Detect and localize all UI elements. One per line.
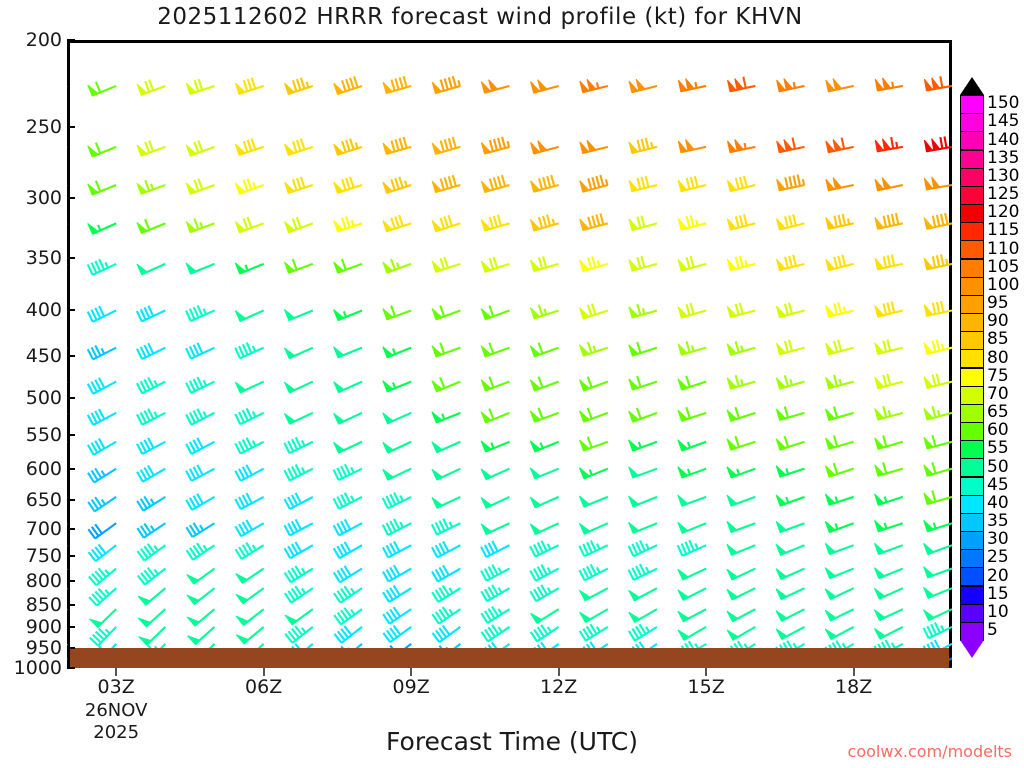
wind-barb (580, 213, 608, 230)
wind-barb (432, 607, 460, 624)
wind-barb (88, 468, 116, 482)
wind-barb (88, 306, 116, 322)
wind-barb (875, 301, 903, 316)
wind-barb (88, 438, 116, 454)
wind-barb (383, 413, 411, 424)
wind-barb (874, 588, 902, 599)
wind-barb (285, 542, 313, 558)
wind-barb (924, 177, 952, 190)
wind-barb (924, 136, 952, 151)
wind-barb (334, 139, 362, 155)
wind-barb (186, 377, 214, 393)
colorbar-tick-label: 80 (987, 348, 1009, 368)
wind-barb (383, 215, 411, 231)
wind-barb (580, 624, 608, 640)
wind-barb (727, 341, 755, 354)
wind-barb (432, 215, 460, 231)
wind-barb (875, 435, 903, 448)
colorbar-top-arrow (960, 77, 984, 95)
wind-barb (334, 259, 362, 273)
colorbar-tick-label: 100 (987, 275, 1019, 295)
wind-barb (285, 626, 313, 643)
wind-barb (235, 263, 263, 274)
wind-barb (531, 256, 559, 271)
wind-barb (383, 541, 411, 557)
wind-barb (137, 377, 165, 393)
wind-barb (678, 176, 706, 191)
y-axis-tick-label: 900 (26, 616, 62, 638)
wind-barb (88, 259, 116, 275)
wind-barb (826, 79, 854, 92)
colorbar-tick-label: 45 (987, 475, 1009, 495)
wind-barb (727, 256, 755, 270)
wind-barb (924, 213, 952, 229)
colorbar-tick-label: 130 (987, 166, 1019, 186)
colorbar-tick-label: 135 (987, 148, 1019, 168)
y-axis-tick-mark (67, 197, 75, 199)
y-axis-tick-label: 850 (26, 594, 62, 616)
wind-barb (137, 465, 165, 481)
wind-barb (235, 217, 263, 232)
wind-barb (89, 568, 116, 585)
colorbar-tick-label: 125 (987, 184, 1019, 204)
wind-barb (875, 78, 903, 91)
wind-barb (235, 520, 263, 536)
wind-barb (481, 441, 509, 452)
colorbar-swatch (960, 458, 984, 477)
wind-barb (186, 409, 214, 425)
colorbar-tick-label: 145 (987, 111, 1019, 131)
wind-barb (236, 569, 264, 584)
wind-barb (187, 627, 214, 644)
wind-barb (187, 588, 215, 604)
wind-barb (383, 586, 411, 602)
wind-barb (481, 306, 509, 320)
wind-barb (826, 214, 854, 229)
date-line-1: 26NOV (85, 700, 148, 722)
y-axis-tick-mark (67, 126, 75, 128)
wind-barb (285, 78, 313, 94)
colorbar-swatch (960, 331, 984, 350)
wind-barb (137, 343, 165, 359)
wind-barb (531, 175, 559, 192)
colorbar-tick-label: 40 (987, 493, 1009, 513)
y-axis-tick-label: 250 (26, 116, 62, 138)
wind-barb (334, 542, 362, 558)
wind-barb (236, 609, 264, 625)
wind-barb (629, 79, 657, 92)
wind-barb (432, 469, 460, 480)
wind-barb (481, 409, 509, 423)
colorbar-swatch (960, 259, 984, 278)
wind-barb (678, 256, 706, 270)
wind-barb (629, 588, 657, 600)
wind-barb (875, 254, 903, 269)
wind-barb (579, 523, 607, 534)
y-axis-tick-label: 200 (26, 29, 62, 51)
wind-barb (383, 306, 411, 320)
wind-barb (284, 493, 312, 509)
colorbar-tick-label: 120 (987, 202, 1019, 222)
wind-barb (530, 523, 558, 534)
wind-barb (727, 495, 755, 506)
wind-barb (825, 627, 853, 639)
wind-barb (875, 406, 903, 419)
wind-barb (481, 377, 509, 391)
colorbar-swatch (960, 150, 984, 169)
wind-barb (678, 376, 706, 390)
wind-barb (187, 609, 214, 626)
wind-barb (432, 497, 460, 508)
wind-barb (481, 469, 509, 480)
wind-barb (776, 588, 804, 599)
wind-barb (825, 521, 853, 532)
wind-barb (678, 407, 706, 421)
wind-barb (432, 257, 460, 272)
colorbar-tick-label: 30 (987, 529, 1009, 549)
colorbar-swatch (960, 422, 984, 441)
wind-barb (875, 520, 903, 531)
wind-barb (875, 213, 903, 229)
wind-barb (88, 345, 116, 359)
wind-barb (334, 519, 362, 535)
wind-barb (776, 495, 804, 506)
y-axis-tick-mark (67, 604, 75, 606)
y-axis-tick-label: 500 (26, 387, 62, 409)
wind-barb (383, 259, 411, 273)
wind-barb (88, 409, 116, 425)
y-axis-tick-mark (67, 667, 75, 669)
wind-barb (678, 540, 706, 556)
wind-barb (678, 303, 706, 318)
wind-barb (88, 181, 116, 195)
wind-barb (629, 467, 657, 478)
wind-barb (285, 177, 313, 193)
wind-barb (186, 179, 214, 194)
wind-barb (383, 565, 411, 581)
wind-barb (137, 438, 165, 454)
wind-barb (284, 348, 312, 359)
wind-barb (924, 301, 952, 316)
wind-barb (874, 627, 902, 639)
wind-barb (90, 627, 116, 646)
wind-barb (875, 462, 903, 475)
colorbar-swatch (960, 368, 984, 387)
wind-barb (825, 588, 853, 599)
wind-barb (924, 462, 952, 475)
wind-barb (334, 493, 362, 509)
wind-barb (383, 607, 411, 624)
wind-barb (530, 468, 558, 479)
wind-barb (235, 139, 263, 155)
wind-barb (187, 569, 215, 584)
wind-barb (481, 606, 509, 622)
colorbar-swatch (960, 240, 984, 259)
wind-barb (383, 76, 411, 93)
colorbar-swatch (960, 531, 984, 550)
wind-barb (875, 374, 903, 388)
wind-barb (88, 82, 116, 96)
wind-barb (531, 80, 559, 93)
x-axis-tick-label: 06Z (245, 676, 282, 698)
wind-barb (580, 609, 608, 622)
wind-barb (334, 310, 362, 321)
y-axis-tick-mark (67, 39, 75, 41)
wind-barb (235, 465, 263, 481)
wind-barb (678, 569, 706, 580)
wind-barb (186, 140, 214, 155)
wind-barb (530, 305, 558, 319)
wind-barb (629, 496, 657, 507)
wind-barb (139, 627, 166, 645)
credit-watermark: coolwx.com/modelts (848, 742, 1012, 761)
wind-barb (875, 137, 903, 151)
wind-barb (924, 567, 952, 578)
wind-barb (334, 442, 362, 453)
wind-barb (728, 77, 756, 92)
x-axis-tick-mark (410, 668, 412, 676)
wind-barb (678, 341, 706, 354)
colorbar-tick-label: 95 (987, 293, 1009, 313)
wind-barb (776, 255, 804, 270)
y-axis-tick-mark (67, 528, 75, 530)
wind-barb (235, 78, 263, 94)
colorbar-swatch (960, 495, 984, 514)
colorbar-swatch (960, 95, 984, 114)
y-axis-tick-label: 450 (26, 345, 62, 367)
wind-barb (579, 564, 607, 580)
wind-barb (776, 214, 804, 229)
colorbar-tick-label: 50 (987, 457, 1009, 477)
wind-barb (727, 436, 755, 450)
y-axis-tick-label: 650 (26, 489, 62, 511)
wind-barb (825, 463, 853, 477)
wind-barb (924, 543, 952, 554)
colorbar-swatch (960, 440, 984, 459)
wind-barb (284, 519, 312, 535)
wind-barb (432, 175, 460, 192)
y-axis-tick-label: 800 (26, 570, 62, 592)
wind-barb (334, 76, 362, 94)
wind-barb (629, 564, 657, 580)
wind-barb (284, 217, 312, 232)
wind-barb (285, 609, 313, 624)
wind-barb (776, 627, 804, 639)
x-axis-tick-mark (853, 668, 855, 676)
wind-barb (825, 568, 853, 579)
wind-barb (826, 340, 854, 354)
wind-barb (530, 541, 558, 557)
wind-barb (236, 543, 264, 559)
wind-barb (235, 493, 263, 509)
colorbar-tick-label: 90 (987, 311, 1009, 331)
wind-barb (924, 609, 952, 620)
wind-barb (678, 627, 706, 640)
wind-barb (284, 382, 312, 393)
terrain-band (70, 648, 949, 668)
wind-barb (874, 609, 902, 620)
wind-barb (432, 442, 460, 453)
wind-barb (727, 627, 755, 640)
wind-barb (826, 255, 854, 270)
wind-barb (826, 302, 854, 316)
wind-barb (530, 585, 558, 601)
wind-barb (924, 587, 952, 598)
wind-barb (137, 496, 165, 510)
wind-barb (629, 624, 657, 640)
wind-barb (531, 609, 559, 623)
wind-barb (727, 214, 755, 229)
wind-barb (383, 381, 411, 392)
y-axis-tick-label: 300 (26, 187, 62, 209)
colorbar-swatch (960, 277, 984, 296)
wind-barb (285, 566, 313, 582)
wind-barb (89, 609, 116, 627)
wind-barb (137, 180, 165, 194)
wind-barb (629, 540, 657, 556)
x-axis-tick-label: 09Z (393, 676, 430, 698)
colorbar-tick-label: 55 (987, 438, 1009, 458)
wind-barb (777, 175, 805, 191)
colorbar-tick-label: 140 (987, 130, 1019, 150)
wind-barb (432, 586, 460, 602)
wind-barb (284, 413, 312, 424)
wind-barb (678, 588, 706, 600)
wind-barb (88, 143, 116, 157)
wind-barb (88, 497, 116, 512)
colorbar-swatch (960, 549, 984, 568)
wind-barb (186, 218, 214, 232)
colorbar-tick-label: 15 (987, 584, 1009, 604)
wind-barb (138, 609, 165, 626)
colorbar-swatch (960, 204, 984, 223)
colorbar-tick-label: 20 (987, 566, 1009, 586)
wind-barb (530, 408, 558, 422)
wind-barb (235, 310, 263, 321)
wind-barb (530, 441, 558, 452)
x-axis-tick-label: 15Z (688, 676, 725, 698)
wind-barb (579, 377, 607, 391)
wind-barb (138, 568, 166, 585)
wind-barb (826, 178, 854, 191)
wind-barb (776, 609, 804, 621)
wind-barb (629, 216, 657, 230)
wind-barb (481, 257, 509, 272)
y-axis-tick-mark (67, 434, 75, 436)
wind-barb (825, 494, 853, 505)
page-title: 2025112602 HRRR forecast wind profile (k… (0, 4, 960, 30)
colorbar-swatch (960, 386, 984, 405)
wind-barb (284, 465, 312, 481)
y-axis-tick-label: 600 (26, 458, 62, 480)
wind-barb (137, 264, 165, 275)
colorbar-tick-label: 150 (987, 93, 1019, 113)
wind-barb (284, 259, 312, 273)
x-axis-tick-label: 18Z (835, 676, 872, 698)
wind-barb (334, 608, 362, 625)
wind-barb (186, 343, 214, 359)
wind-barb (186, 523, 214, 537)
x-axis-tick-mark (263, 668, 265, 676)
y-axis-tick-label: 550 (26, 424, 62, 446)
wind-barb (186, 79, 214, 94)
wind-barb (875, 494, 903, 505)
wind-barb (137, 409, 165, 425)
colorbar-swatch (960, 567, 984, 586)
wind-barb (481, 175, 509, 192)
wind-barb (383, 469, 411, 480)
wind-barb (383, 137, 411, 154)
wind-barb (924, 622, 952, 638)
wind-barb (776, 407, 804, 420)
wind-barb (629, 440, 657, 451)
wind-barb (235, 382, 263, 393)
colorbar-swatch (960, 295, 984, 314)
colorbar-swatch (960, 349, 984, 368)
colorbar-swatch (960, 604, 984, 623)
wind-barb (629, 304, 657, 317)
colorbar-tick-label: 85 (987, 329, 1009, 349)
wind-barb-plot (67, 40, 952, 668)
wind-barb (481, 343, 509, 357)
wind-barb (580, 175, 608, 192)
wind-barb (825, 609, 853, 620)
x-axis-tick-label: 12Z (540, 676, 577, 698)
wind-barb (88, 523, 116, 538)
wind-barb (334, 382, 362, 393)
wind-barb (727, 303, 755, 317)
wind-barb (186, 263, 214, 274)
wind-barb (678, 215, 706, 229)
wind-barb (924, 374, 952, 388)
wind-barb (432, 377, 460, 391)
wind-barb (875, 340, 903, 354)
wind-barb (481, 523, 509, 534)
wind-barb (727, 521, 755, 532)
y-axis-tick-mark (67, 468, 75, 470)
wind-barb (629, 138, 657, 153)
wind-barb (334, 347, 362, 358)
wind-barb (678, 495, 706, 506)
wind-barb (777, 138, 805, 153)
colorbar-swatch (960, 586, 984, 605)
y-axis-tick-mark (67, 580, 75, 582)
wind-barb (727, 467, 755, 478)
wind-barb (776, 544, 804, 555)
y-axis-tick-mark (67, 257, 75, 259)
wind-barb (580, 304, 608, 319)
x-axis-tick-label: 03Z (98, 676, 135, 698)
wind-barb (530, 343, 558, 357)
wind-barb (727, 609, 755, 621)
wind-barb (334, 464, 362, 480)
wind-barb (186, 494, 214, 510)
colorbar-swatch (960, 186, 984, 205)
colorbar-tick-label: 105 (987, 257, 1019, 277)
wind-barb (629, 176, 657, 191)
wind-barb (924, 76, 952, 90)
wind-barb (580, 140, 608, 153)
wind-barb (432, 541, 460, 557)
x-axis-tick-mark (115, 668, 117, 676)
wind-barb (284, 437, 312, 453)
wind-barb (138, 544, 166, 561)
wind-barb (137, 306, 165, 322)
wind-barb (235, 343, 263, 359)
colorbar-swatch (960, 477, 984, 496)
colorbar[interactable]: 1501451401351301251201151101051009590858… (960, 95, 984, 640)
wind-barb (826, 375, 854, 388)
